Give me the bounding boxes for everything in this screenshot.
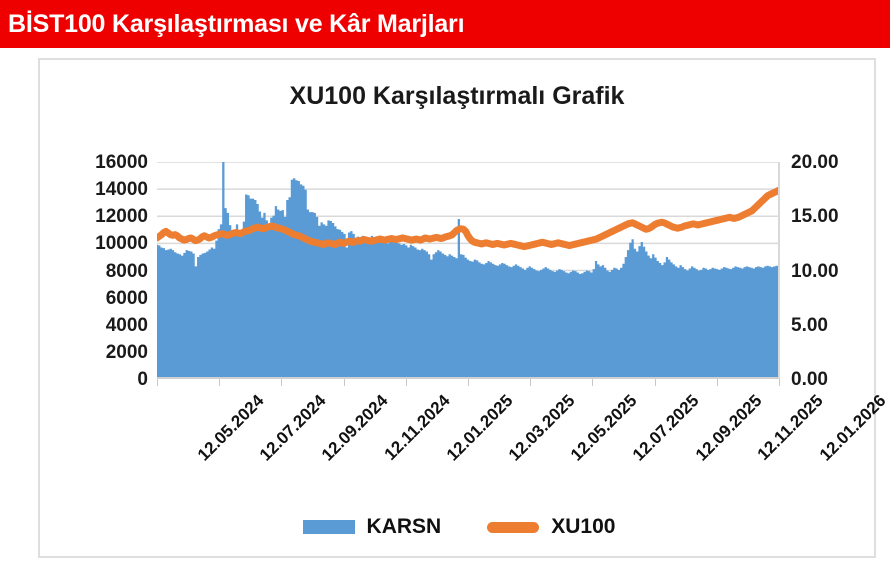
x-axis-labels: 12.05.202412.07.202412.09.202412.11.2024… [157,385,779,495]
chart-panel: XU100 Karşılaştırmalı Grafik 02000400060… [38,58,876,558]
legend-item-karsn[interactable]: KARSN [303,515,442,539]
y-axis-right-label: 20.00 [791,153,839,172]
legend-item-xu100[interactable]: XU100 [487,515,615,539]
x-axis-label: 12.03.2025 [505,391,579,465]
x-axis-label: 12.09.2024 [318,391,392,465]
series-area-karsn [157,162,779,379]
plot-canvas [157,162,779,379]
y-axis-left-label: 4000 [106,316,148,335]
plot-area: 0200040006000800010000120001400016000 0.… [157,162,779,379]
y-axis-right-label: 15.00 [791,207,839,226]
x-axis-label: 12.07.2024 [256,391,330,465]
legend-line-swatch-icon [487,522,539,533]
y-axis-left-label: 16000 [95,153,148,172]
y-axis-left-label: 12000 [95,207,148,226]
legend-area-swatch-icon [303,520,355,534]
x-axis-label: 12.11.2025 [753,391,827,465]
y-axis-left-label: 10000 [95,234,148,253]
y-axis-left-label: 8000 [106,262,148,281]
y-axis-left-label: 0 [137,370,148,389]
right-axis-line [778,162,780,379]
x-axis-label: 12.01.2025 [443,391,517,465]
y-axis-right-label: 5.00 [791,316,828,335]
legend-label-xu100: XU100 [551,515,615,539]
chart-title: XU100 Karşılaştırmalı Grafik [40,82,874,111]
y-axis-left-label: 14000 [95,180,148,199]
x-axis-label: 12.09.2025 [692,391,766,465]
x-axis-label: 12.01.2026 [816,391,890,465]
legend-label-karsn: KARSN [367,515,442,539]
y-axis-left-label: 6000 [106,289,148,308]
page-header: BİST100 Karşılaştırması ve Kâr Marjları [0,0,890,48]
page-title: BİST100 Karşılaştırması ve Kâr Marjları [0,10,464,39]
x-axis-label: 12.11.2024 [380,391,454,465]
x-axis-label: 12.05.2024 [194,391,268,465]
y-axis-right-label: 10.00 [791,262,839,281]
screenshot-root: BİST100 Karşılaştırması ve Kâr Marjları … [0,0,890,564]
chart-legend: KARSN XU100 [40,515,878,539]
x-axis-label: 12.05.2025 [567,391,641,465]
x-axis-tick [779,379,780,386]
x-axis-label: 12.07.2025 [629,391,703,465]
y-axis-left-label: 2000 [106,343,148,362]
y-axis-right-label: 0.00 [791,370,828,389]
